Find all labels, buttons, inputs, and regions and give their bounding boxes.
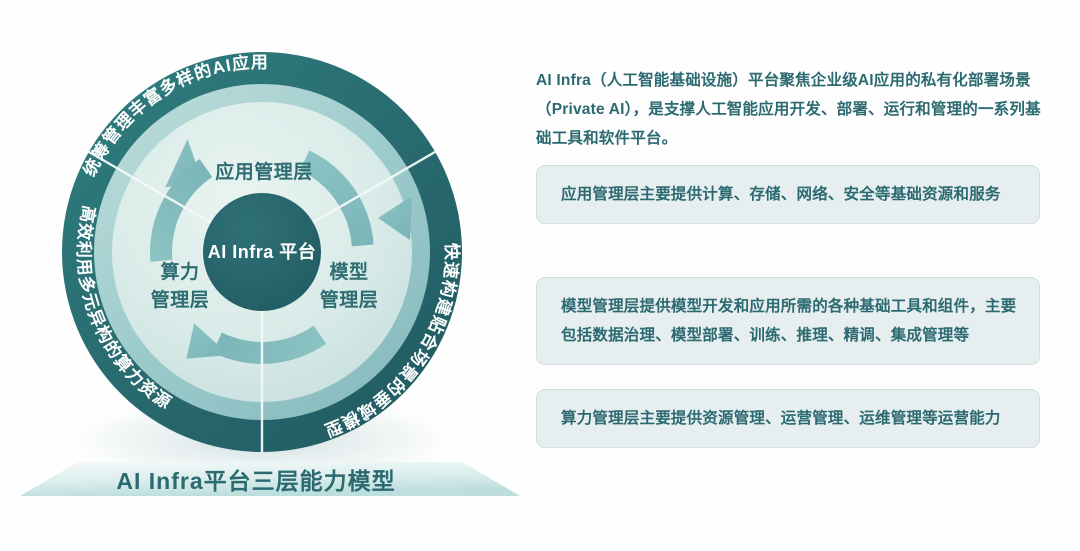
diagram-title: AI Infra平台三层能力模型	[0, 466, 512, 496]
info-card-compute-layer-text: 算力管理层主要提供资源管理、运营管理、运维管理等运营能力	[561, 410, 1001, 427]
layer-label-model-line1: 模型	[329, 260, 368, 283]
info-card-compute-layer: 算力管理层主要提供资源管理、运营管理、运维管理等运营能力	[536, 389, 1040, 448]
info-card-model-layer: 模型管理层提供模型开发和应用所需的各种基础工具和组件，主要包括数据治理、模型部署…	[536, 277, 1040, 365]
layer-label-application: 应用管理层	[215, 160, 313, 183]
three-layer-capability-diagram: AI Infra 平台 统筹管理丰富多样的AI应用 快速构建贴合场景的垂域模型 …	[0, 0, 512, 551]
info-card-model-layer-text: 模型管理层提供模型开发和应用所需的各种基础工具和组件，主要包括数据治理、模型部署…	[561, 298, 1016, 344]
layer-label-compute-line1: 算力	[160, 260, 199, 283]
intro-paragraph: AI Infra（人工智能基础设施）平台聚焦企业级AI应用的私有化部署场景（Pr…	[536, 66, 1044, 153]
layer-label-compute-line2: 管理层	[151, 288, 210, 311]
core-label: AI Infra 平台	[208, 241, 317, 262]
info-card-application-layer-text: 应用管理层主要提供计算、存储、网络、安全等基础资源和服务	[561, 186, 1001, 203]
layer-label-model-line2: 管理层	[320, 288, 379, 311]
description-panel: AI Infra（人工智能基础设施）平台聚焦企业级AI应用的私有化部署场景（Pr…	[528, 0, 1064, 551]
slide-root: AI Infra 平台 统筹管理丰富多样的AI应用 快速构建贴合场景的垂域模型 …	[0, 0, 1080, 551]
info-card-application-layer: 应用管理层主要提供计算、存储、网络、安全等基础资源和服务	[536, 165, 1040, 224]
